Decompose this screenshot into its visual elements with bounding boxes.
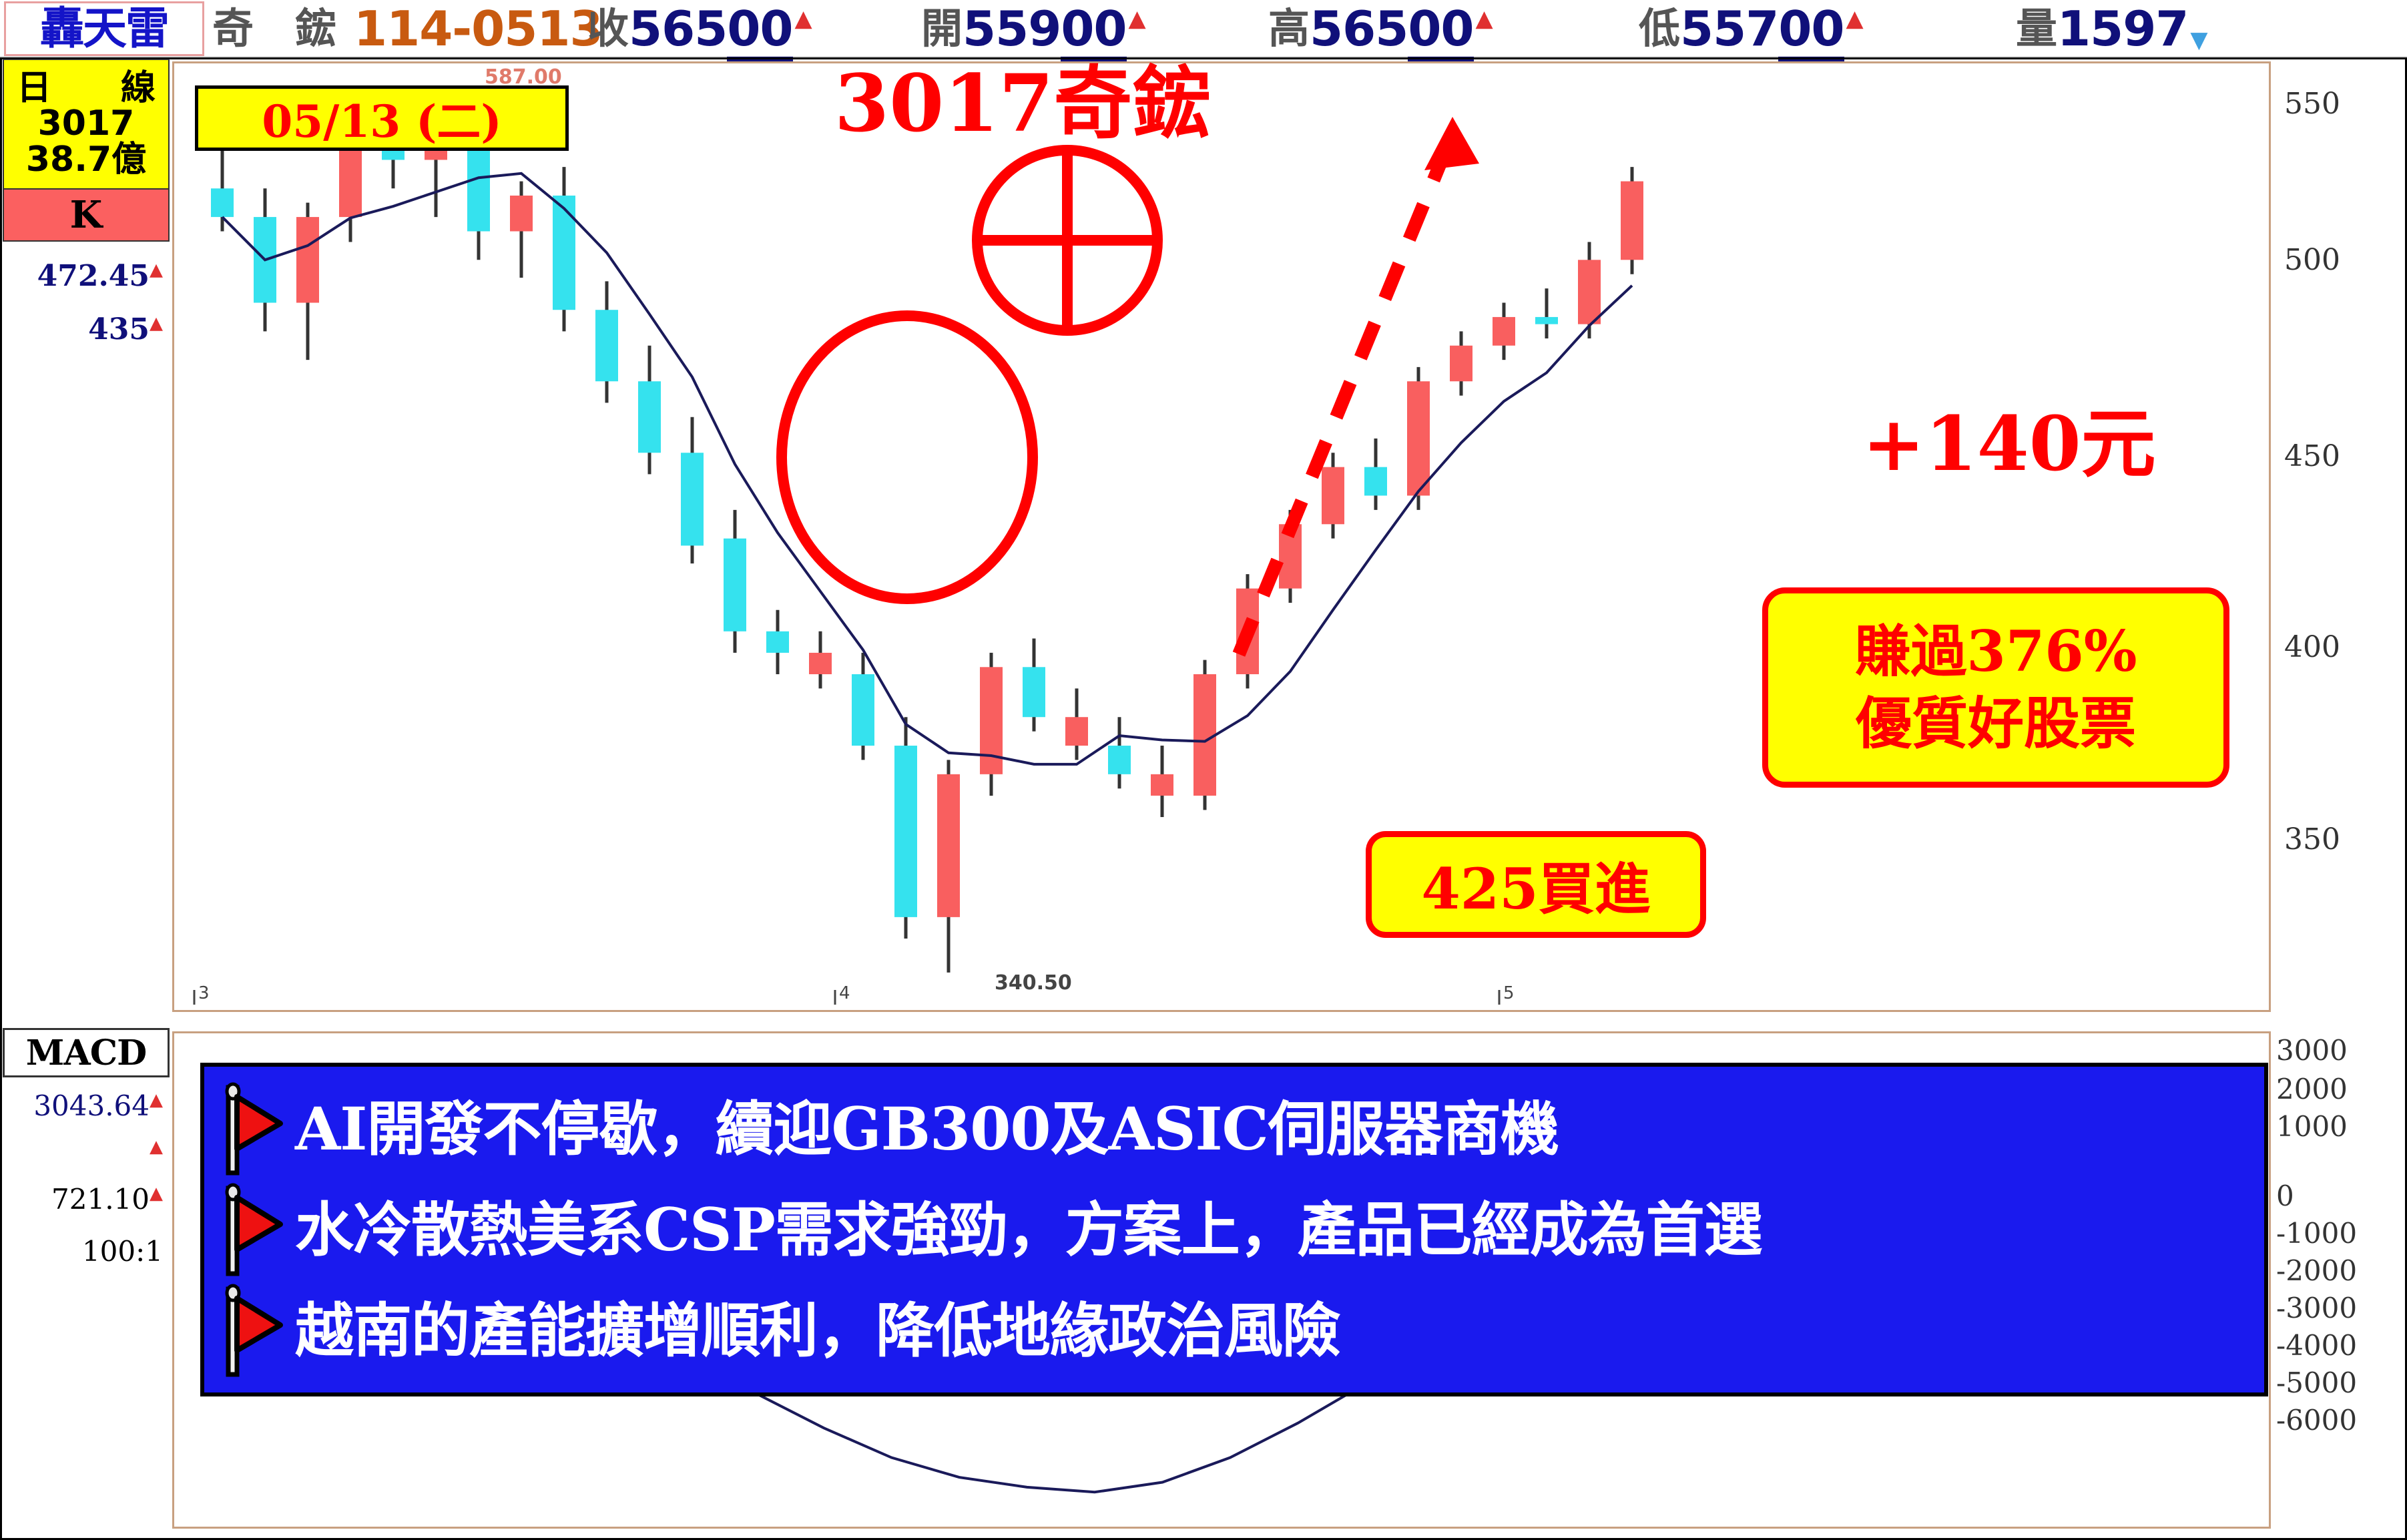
high-value: 56500 bbox=[1310, 5, 1474, 53]
date-badge[interactable]: 05/13 (二) bbox=[195, 85, 569, 151]
y-tick-550: 550 bbox=[2284, 87, 2340, 121]
x-tick-5: 5 bbox=[1503, 983, 1515, 1003]
brand-logo-box: 轟天雷 bbox=[4, 1, 204, 56]
performance-note-box[interactable]: 賺過376% 優質好股票 bbox=[1762, 587, 2229, 788]
macd-title-label: MACD bbox=[26, 1033, 146, 1073]
date-code-label: 114-0513 bbox=[354, 5, 603, 53]
macd-tick--1000: -1000 bbox=[2276, 1217, 2357, 1250]
date-badge-label: 05/13 (二) bbox=[262, 86, 501, 150]
y-tick-400: 400 bbox=[2284, 630, 2340, 664]
macd2-up-arrow-icon: ▲ bbox=[150, 1137, 163, 1157]
price-chart-canvas[interactable] bbox=[174, 63, 2269, 1010]
volume-value: 1597 bbox=[2057, 5, 2188, 53]
ma-value-2: 435▲ bbox=[88, 312, 163, 346]
performance-note-line-1: 賺過376% bbox=[1854, 615, 2137, 688]
indicator-tab-k[interactable]: K bbox=[3, 190, 170, 242]
ticker-field-open: 開 55900 ▲ bbox=[921, 0, 1146, 57]
ticker-bar: 轟天雷 奇 鋐 114-0513 收 56500 ▲ 開 55900 ▲ 高 5… bbox=[0, 0, 2407, 57]
open-label: 開 bbox=[921, 8, 963, 49]
ticker-field-volume: 量 1597 ▼ bbox=[2016, 0, 2208, 57]
macd-y-axis: 3000 2000 1000 0 -1000 -2000 -3000 -4000… bbox=[2269, 1031, 2407, 1539]
ticker-field-close: 收 56500 ▲ bbox=[587, 0, 812, 57]
y-tick-350: 350 bbox=[2284, 822, 2340, 856]
red-flag-icon bbox=[222, 1284, 286, 1377]
macd-value-1: 3043.64▲ bbox=[33, 1089, 163, 1122]
price-y-axis: 550 500 450 400 350 bbox=[2278, 61, 2404, 1012]
news-item: AI開發不停歇，續迎GB300及ASIC伺服器商機 bbox=[222, 1079, 2247, 1179]
macd-value-2: ▲ bbox=[150, 1136, 163, 1169]
close-value: 56500 bbox=[629, 5, 793, 53]
crosshair-target-icon bbox=[977, 150, 1157, 330]
buy-zone-ellipse bbox=[782, 316, 1033, 599]
stock-code-label: 3017 bbox=[38, 106, 135, 142]
macd-tick--3000: -3000 bbox=[2276, 1292, 2357, 1324]
macd-tick--2000: -2000 bbox=[2276, 1254, 2357, 1287]
low-up-arrow-icon: ▲ bbox=[1846, 5, 1864, 32]
macd1-up-arrow-icon: ▲ bbox=[150, 1090, 163, 1110]
stock-name-label: 奇 鋐 bbox=[212, 8, 336, 49]
buy-price-note-label: 425買進 bbox=[1421, 844, 1650, 925]
news-item: 越南的產能擴增順利，降低地緣政治風險 bbox=[222, 1280, 2247, 1380]
news-item-text: 越南的產能擴增順利，降低地緣政治風險 bbox=[295, 1301, 1340, 1360]
high-up-arrow-icon: ▲ bbox=[1476, 5, 1493, 32]
left-summary-box[interactable]: 日 線 3017 38.7億 bbox=[3, 59, 170, 190]
volume-label: 量 bbox=[2016, 8, 2057, 49]
indicator-label: K bbox=[70, 193, 103, 237]
macd3-up-arrow-icon: ▲ bbox=[150, 1184, 163, 1204]
red-flag-icon bbox=[222, 1183, 286, 1276]
period-label: 日 線 bbox=[0, 71, 173, 106]
red-flag-icon bbox=[222, 1082, 286, 1176]
low-label: 低 bbox=[1639, 8, 1680, 49]
ticker-field-low: 低 55700 ▲ bbox=[1639, 0, 1864, 57]
ma1-up-arrow-icon: ▲ bbox=[150, 260, 163, 280]
macd-info-panel: MACD 3043.64▲ ▲ 721.10▲ 100:1 bbox=[3, 1028, 170, 1402]
page-title: 3017奇鋐 bbox=[834, 64, 1211, 143]
macd-tick-0: 0 bbox=[2276, 1180, 2294, 1212]
news-item-text: AI開發不停歇，續迎GB300及ASIC伺服器商機 bbox=[295, 1099, 1559, 1158]
macd-tick--6000: -6000 bbox=[2276, 1404, 2357, 1437]
turnover-label: 38.7億 bbox=[26, 142, 146, 178]
close-label: 收 bbox=[587, 8, 629, 49]
y-tick-500: 500 bbox=[2284, 243, 2340, 277]
macd-title-box[interactable]: MACD bbox=[3, 1028, 170, 1077]
brand-label: 轟天雷 bbox=[40, 7, 168, 51]
macd-tick-1000: 1000 bbox=[2276, 1110, 2348, 1143]
ticker-date-code: 114-0513 bbox=[354, 0, 603, 57]
macd-ratio-label: 100:1 bbox=[82, 1235, 163, 1268]
ma2-up-arrow-icon: ▲ bbox=[150, 313, 163, 333]
ma-value-1: 472.45▲ bbox=[37, 259, 163, 293]
low-price-marker-label: 340.50 bbox=[995, 971, 1072, 995]
y-tick-450: 450 bbox=[2284, 439, 2340, 473]
macd-tick--4000: -4000 bbox=[2276, 1329, 2357, 1362]
news-item-text: 水冷散熱美系CSP需求強勁，方案上，產品已經成為首選 bbox=[295, 1200, 1762, 1259]
low-value: 55700 bbox=[1680, 5, 1844, 53]
close-up-arrow-icon: ▲ bbox=[795, 5, 812, 32]
left-info-panel: 日 線 3017 38.7億 K 472.45▲ 435▲ bbox=[3, 59, 170, 1013]
open-up-arrow-icon: ▲ bbox=[1129, 5, 1146, 32]
x-tick-3: 3 bbox=[198, 983, 210, 1003]
x-tick-4: 4 bbox=[839, 983, 850, 1003]
macd-tick--5000: -5000 bbox=[2276, 1366, 2357, 1399]
news-item: 水冷散熱美系CSP需求強勁，方案上，產品已經成為首選 bbox=[222, 1180, 2247, 1280]
macd-tick-2000: 2000 bbox=[2276, 1073, 2348, 1105]
news-highlights-panel[interactable]: AI開發不停歇，續迎GB300及ASIC伺服器商機 水冷散熱美系CSP需求強勁，… bbox=[200, 1063, 2268, 1396]
macd-value-3: 721.10▲ bbox=[51, 1183, 163, 1216]
price-chart-frame[interactable]: 3 4 5 bbox=[172, 61, 2271, 1012]
high-label: 高 bbox=[1268, 8, 1310, 49]
ticker-stock-name: 奇 鋐 bbox=[212, 0, 336, 57]
open-value: 55900 bbox=[963, 5, 1127, 53]
buy-price-note-box[interactable]: 425買進 bbox=[1366, 831, 1706, 938]
volume-down-arrow-icon: ▼ bbox=[2190, 27, 2207, 53]
gain-annotation: +140元 bbox=[1862, 407, 2156, 482]
ticker-field-high: 高 56500 ▲ bbox=[1268, 0, 1493, 57]
performance-note-line-2: 優質好股票 bbox=[1856, 688, 2136, 760]
macd-tick-3000: 3000 bbox=[2276, 1034, 2348, 1067]
